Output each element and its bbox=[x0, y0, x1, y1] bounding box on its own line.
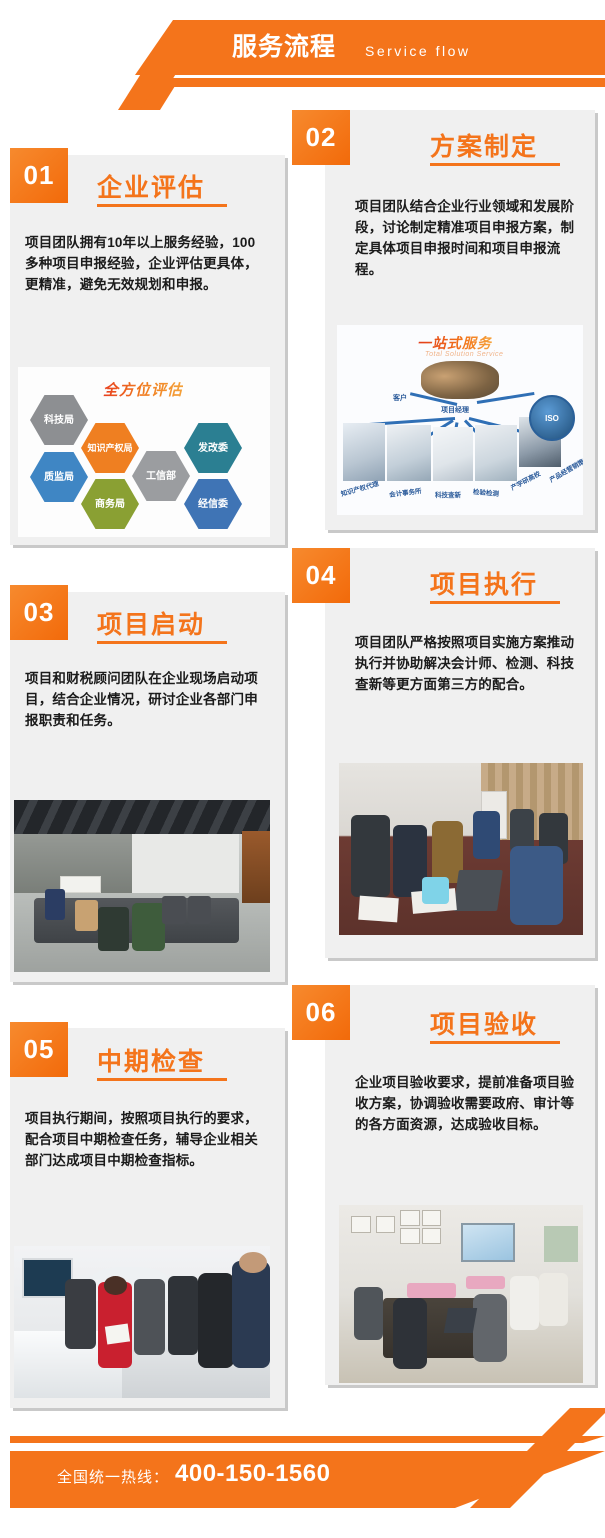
branch-photo-search bbox=[433, 427, 473, 481]
card-04-title-rule bbox=[430, 601, 560, 604]
card-06-title-rule bbox=[430, 1041, 560, 1044]
card-04-photo bbox=[339, 763, 583, 935]
card-02-title-rule bbox=[430, 163, 560, 166]
card-05-title: 中期检查 bbox=[97, 1042, 205, 1078]
card-02-number: 02 bbox=[292, 110, 350, 165]
card-02-title: 方案制定 bbox=[430, 127, 538, 163]
card-03-title: 项目启动 bbox=[97, 605, 205, 641]
card-01-title: 企业评估 bbox=[97, 168, 205, 204]
one-stop-label-testing: 检验检测 bbox=[473, 486, 500, 498]
one-stop-label-customer: 客户 bbox=[393, 393, 407, 403]
card-05-body: 项目执行期间，按照项目执行的要求，配合项目中期检查任务，辅导企业相关部门达成项目… bbox=[25, 1108, 268, 1171]
branch-photo-ip bbox=[343, 423, 385, 481]
footer-hotline-number: 400-150-1560 bbox=[175, 1460, 330, 1488]
branch-photo-testing bbox=[475, 425, 517, 481]
card-06-title: 项目验收 bbox=[430, 1005, 538, 1041]
card-03-title-rule bbox=[97, 641, 227, 644]
hex-node-jingxin: 经信委 bbox=[184, 479, 242, 529]
card-05-number: 05 bbox=[10, 1022, 68, 1077]
hex-node-zscq: 知识产权局 bbox=[81, 423, 139, 473]
hex-node-zhijian: 质监局 bbox=[30, 452, 88, 502]
one-stop-subtitle: Total Solution Service bbox=[425, 351, 503, 358]
card-05-photo bbox=[14, 1246, 270, 1398]
card-02-body: 项目团队结合企业行业领域和发展阶段，讨论制定精准项目申报方案，制定具体项目申报时… bbox=[355, 196, 580, 280]
card-04-body: 项目团队严格按照项目实施方案推动执行并协助解决会计师、检测、科技查新等更方面第三… bbox=[355, 632, 580, 695]
card-06-number: 06 bbox=[292, 985, 350, 1040]
hex-node-shangwu: 商务局 bbox=[81, 479, 139, 529]
one-stop-label-search: 科技查新 bbox=[435, 489, 461, 499]
hex-diagram: 全方位评估 科技局 知识产权局 质监局 商务局 工信部 发改委 经信委 bbox=[18, 367, 270, 537]
page-subtitle: Service flow bbox=[365, 36, 470, 66]
card-06-body: 企业项目验收要求，提前准备项目验收方案，协调验收需要政府、审计等的各方面资源，达… bbox=[355, 1072, 580, 1135]
page-title: 服务流程 bbox=[232, 27, 336, 67]
header-underline-stripe bbox=[150, 78, 605, 87]
service-flow-poster: 服务流程 Service flow 01 企业评估 项目团队拥有10年以上服务经… bbox=[0, 0, 605, 1538]
footer-top-stripe bbox=[10, 1436, 605, 1443]
card-05-title-rule bbox=[97, 1078, 227, 1081]
one-stop-label-manager: 项目经理 bbox=[441, 405, 469, 415]
one-stop-label-accounting: 会计事务所 bbox=[389, 485, 422, 499]
card-03-number: 03 bbox=[10, 585, 68, 640]
one-stop-title: 一站式服务 bbox=[417, 333, 492, 353]
branch-photo-accounting bbox=[387, 425, 431, 481]
card-03-body: 项目和财税顾问团队在企业现场启动项目，结合企业情况，研讨企业各部门申报职责和任务… bbox=[25, 668, 268, 731]
card-06-photo bbox=[339, 1205, 583, 1383]
card-04-title: 项目执行 bbox=[430, 565, 538, 601]
card-04-number: 04 bbox=[292, 548, 350, 603]
hex-node-zscq-label: 知识产权局 bbox=[87, 443, 132, 454]
footer-hotline-label: 全国统一热线： bbox=[57, 1466, 169, 1487]
card-01-body: 项目团队拥有10年以上服务经验，100多种项目申报经验，企业评估更具体，更精准，… bbox=[25, 232, 268, 295]
iso-seal-icon: ISO bbox=[529, 395, 575, 441]
hex-diagram-title: 全方位评估 bbox=[103, 379, 183, 400]
card-01-title-rule bbox=[97, 204, 227, 207]
hex-node-gongxin: 工信部 bbox=[132, 451, 190, 501]
hex-node-keji: 科技局 bbox=[30, 395, 88, 445]
card-03-photo bbox=[14, 800, 270, 972]
page-header: 服务流程 Service flow bbox=[0, 0, 605, 110]
hex-node-fagai: 发改委 bbox=[184, 423, 242, 473]
one-stop-diagram: 一站式服务 Total Solution Service 客户 项目经理 ISO… bbox=[337, 325, 583, 515]
one-stop-center-photo bbox=[421, 361, 499, 399]
card-01-number: 01 bbox=[10, 148, 68, 203]
